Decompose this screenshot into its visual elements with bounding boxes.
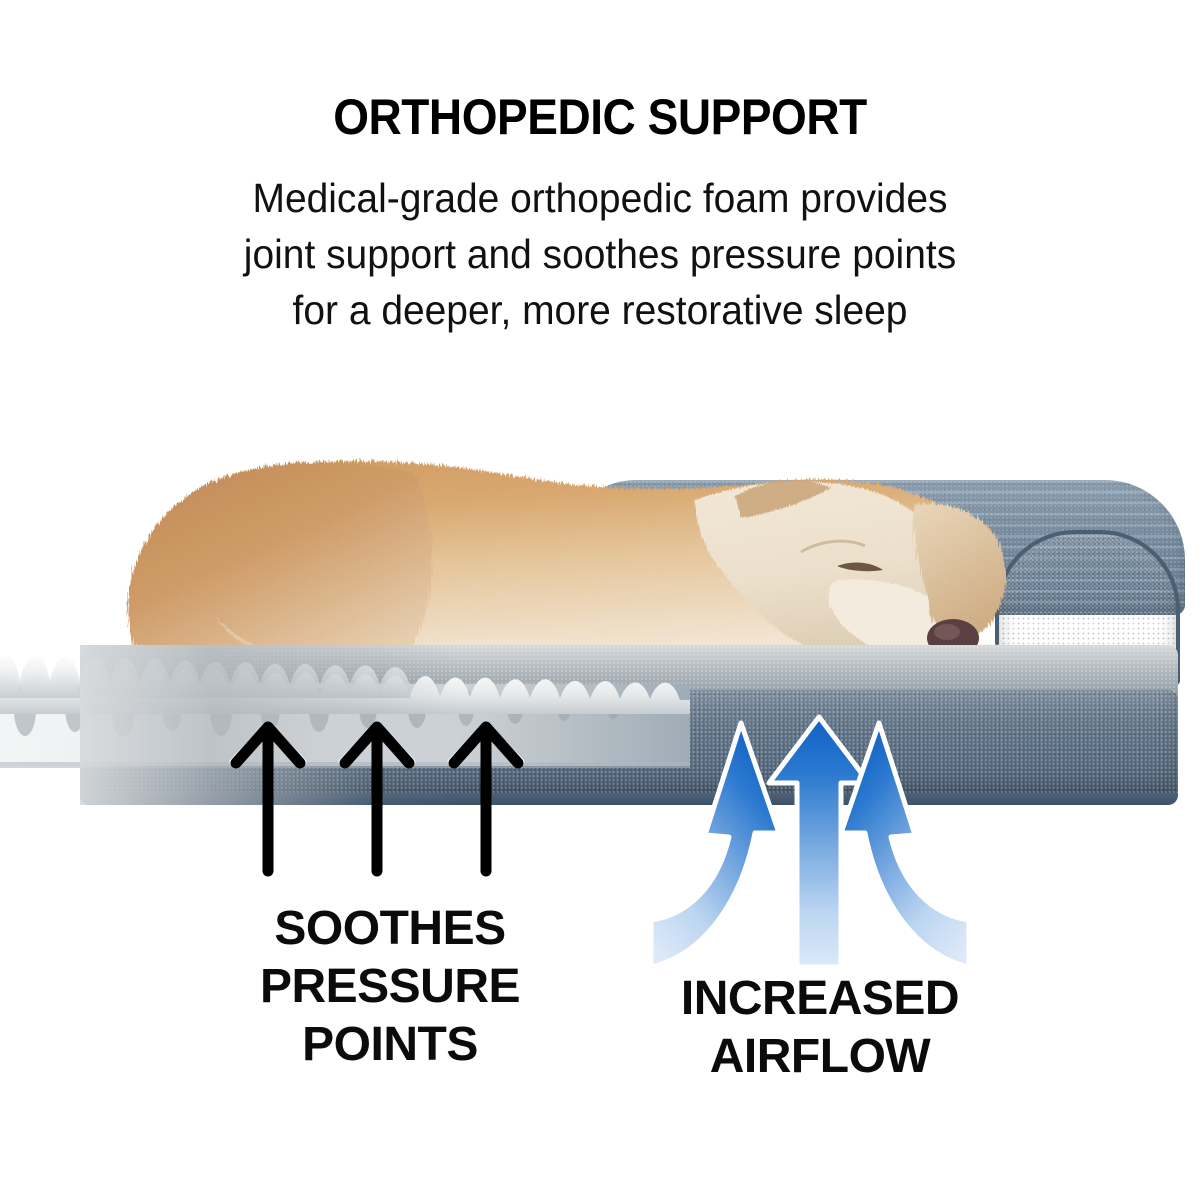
airflow-arrow-center: [769, 717, 869, 967]
airflow-arrows-group: [645, 705, 975, 970]
description-line-2: joint support and soothes pressure point…: [30, 226, 1170, 282]
description-line-3: for a deeper, more restorative sleep: [30, 282, 1170, 338]
pressure-arrow-1: [236, 727, 300, 871]
pressure-arrow-3: [454, 727, 518, 871]
promo-image-canvas: ORTHOPEDIC SUPPORT Medical-grade orthope…: [0, 0, 1200, 1200]
caption-increased-airflow: INCREASED AIRFLOW: [610, 970, 1030, 1086]
caption-left-line-3: POINTS: [150, 1016, 630, 1074]
caption-soothes-pressure-points: SOOTHES PRESSURE POINTS: [150, 900, 630, 1074]
airflow-arrow-left: [651, 723, 779, 967]
caption-left-line-2: PRESSURE: [150, 958, 630, 1016]
product-scene: [0, 420, 1200, 820]
page-title: ORTHOPEDIC SUPPORT: [48, 88, 1152, 146]
caption-right-line-2: AIRFLOW: [610, 1028, 1030, 1086]
description-line-1: Medical-grade orthopedic foam provides: [30, 170, 1170, 226]
pressure-arrow-2: [345, 727, 409, 871]
airflow-arrow-right: [841, 723, 969, 967]
caption-left-line-1: SOOTHES: [150, 900, 630, 958]
pressure-arrows-group: [225, 715, 525, 885]
caption-right-line-1: INCREASED: [610, 970, 1030, 1028]
description-text: Medical-grade orthopedic foam provides j…: [30, 170, 1170, 338]
